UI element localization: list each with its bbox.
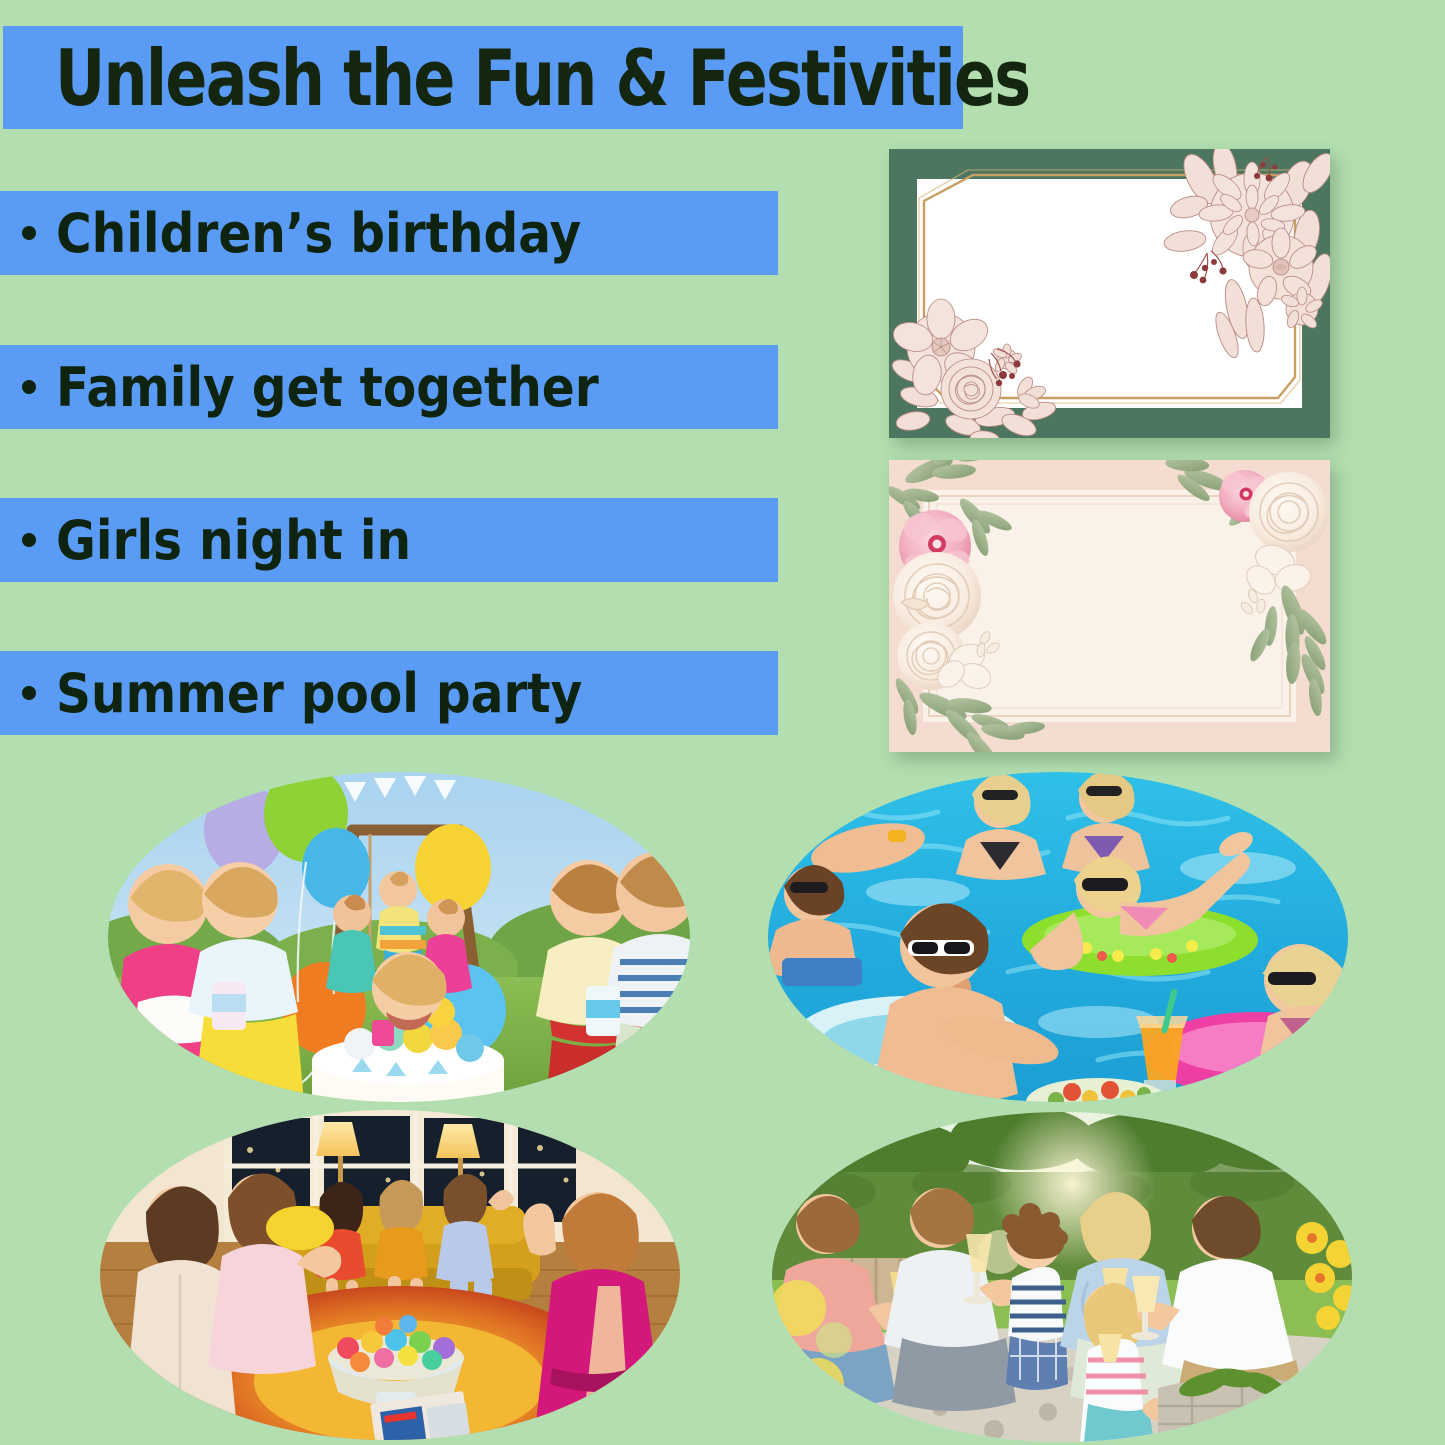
bullet-item-summer-pool-party: Summer pool party: [0, 651, 778, 735]
childrens-birthday-photo: [108, 772, 690, 1102]
girls-night-in-artwork: [100, 1110, 680, 1440]
bullet-label: Summer pool party: [56, 662, 582, 725]
bullet-label: Girls night in: [56, 509, 411, 572]
blush-card-artwork: [889, 460, 1330, 752]
bullet-item-girls-night-in: Girls night in: [0, 498, 778, 582]
page-title: Unleash the Fun & Festivities: [55, 32, 1029, 123]
girls-night-in-photo: [100, 1110, 680, 1440]
bullet-dot-icon: [22, 226, 36, 240]
family-get-together-artwork: [772, 1112, 1352, 1442]
blush-rose-eucalyptus-card: [889, 460, 1330, 752]
title-band: Unleash the Fun & Festivities: [3, 26, 963, 129]
bullet-label: Family get together: [56, 356, 599, 419]
slide-canvas: Unleash the Fun & Festivities Children’s…: [0, 0, 1445, 1445]
bullet-dot-icon: [22, 533, 36, 547]
green-card-artwork: [889, 149, 1330, 438]
bullet-item-family-get-together: Family get together: [0, 345, 778, 429]
family-get-together-photo: [772, 1112, 1352, 1442]
summer-pool-party-photo: [768, 772, 1348, 1102]
green-gold-floral-card: [889, 149, 1330, 438]
bullet-item-childrens-birthday: Children’s birthday: [0, 191, 778, 275]
bullet-dot-icon: [22, 686, 36, 700]
summer-pool-party-artwork: [768, 772, 1348, 1102]
bullet-label: Children’s birthday: [56, 202, 581, 265]
bullet-dot-icon: [22, 380, 36, 394]
childrens-birthday-artwork: [108, 772, 690, 1102]
